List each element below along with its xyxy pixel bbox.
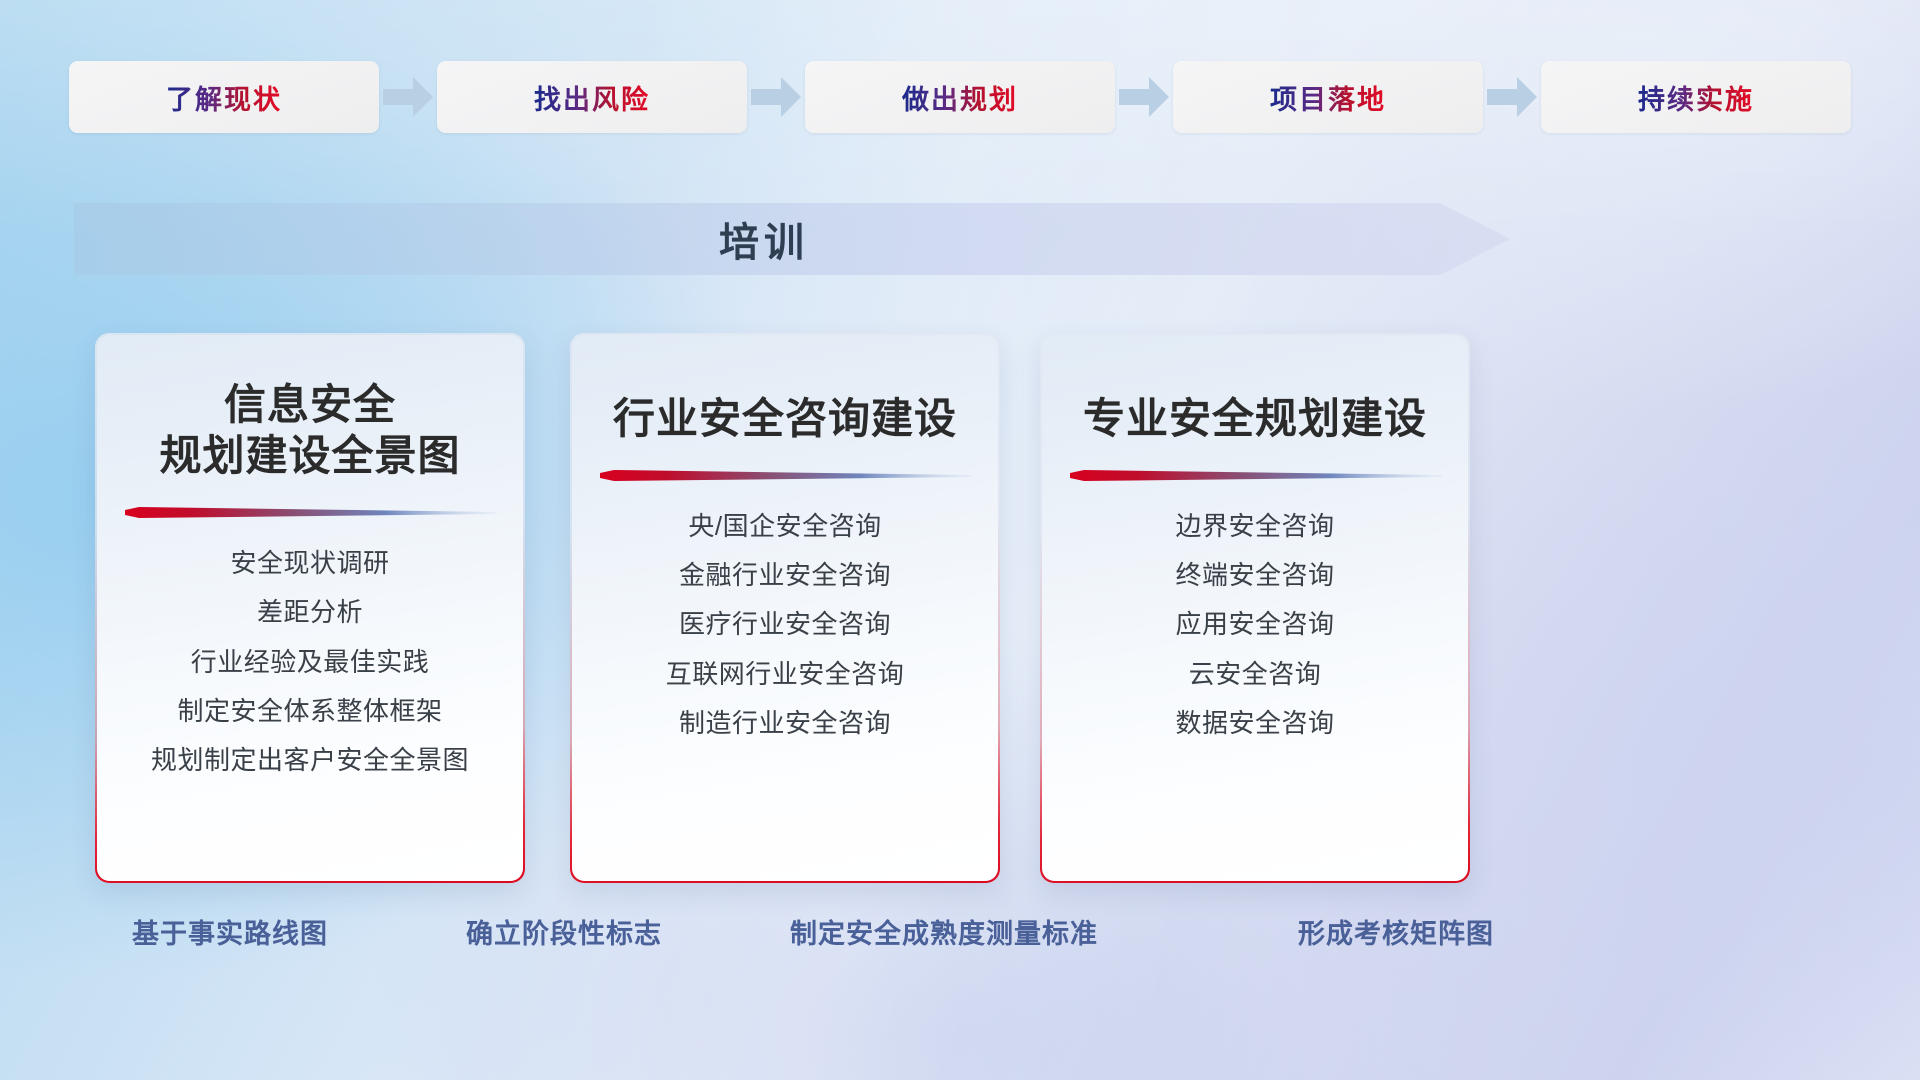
list-item: 安全现状调研 [230, 543, 389, 583]
list-item: 互联网行业安全咨询 [666, 654, 905, 694]
step-box-5[interactable]: 持续实施 [1541, 61, 1851, 133]
step-box-2[interactable]: 找出风险 [437, 61, 747, 133]
list-item: 边界安全咨询 [1175, 506, 1334, 546]
footnote-4: 形成考核矩阵图 [1298, 912, 1494, 951]
card-2[interactable]: 行业安全咨询建设 央/国企安全咨询 [570, 333, 1000, 883]
list-item: 终端安全咨询 [1175, 555, 1334, 595]
card-2-divider [598, 470, 972, 484]
card-2-list: 央/国企安全咨询 金融行业安全咨询 医疗行业安全咨询 互联网行业安全咨询 制造行… [666, 506, 905, 743]
list-item: 规划制定出客户安全全景图 [151, 740, 469, 780]
list-item: 差距分析 [257, 592, 363, 632]
card-2-inner: 行业安全咨询建设 央/国企安全咨询 [572, 335, 999, 882]
step-label-4: 项目落地 [1270, 78, 1386, 117]
card-1-list: 安全现状调研 差距分析 行业经验及最佳实践 制定安全体系整体框架 规划制定出客户… [151, 543, 469, 780]
list-item: 制定安全体系整体框架 [177, 691, 442, 731]
step-arrow-icon-3 [1115, 61, 1173, 133]
card-1-inner: 信息安全 规划建设全景图 安全现状调研 [97, 335, 524, 882]
list-item: 云安全咨询 [1189, 654, 1322, 694]
training-band: 培训 [74, 203, 1510, 275]
list-item: 制造行业安全咨询 [679, 703, 891, 743]
card-row: 信息安全 规划建设全景图 安全现状调研 [0, 333, 1920, 883]
step-arrow-icon-4 [1483, 61, 1541, 133]
footnote-3: 制定安全成熟度测量标准 [790, 912, 1098, 951]
card-3-title: 专业安全规划建设 [1083, 379, 1427, 444]
process-step-row: 了解现状 找出风险 做出规划 项目落地 持续实施 [0, 60, 1920, 134]
step-box-3[interactable]: 做出规划 [805, 61, 1115, 133]
card-3[interactable]: 专业安全规划建设 边界安全咨询 [1040, 333, 1470, 883]
step-label-2: 找出风险 [534, 78, 650, 117]
step-arrow-icon-2 [747, 61, 805, 133]
list-item: 金融行业安全咨询 [679, 555, 891, 595]
card-1-divider [123, 507, 497, 521]
list-item: 行业经验及最佳实践 [191, 642, 430, 682]
step-box-4[interactable]: 项目落地 [1173, 61, 1483, 133]
band-title: 培训 [74, 203, 1454, 275]
list-item: 医疗行业安全咨询 [679, 604, 891, 644]
step-box-1[interactable]: 了解现状 [69, 61, 379, 133]
card-1-title: 信息安全 规划建设全景图 [159, 379, 460, 481]
card-2-title: 行业安全咨询建设 [613, 379, 957, 444]
card-3-inner: 专业安全规划建设 边界安全咨询 [1042, 335, 1469, 882]
step-arrow-icon-1 [379, 61, 437, 133]
list-item: 央/国企安全咨询 [688, 506, 881, 546]
step-label-5: 持续实施 [1638, 78, 1754, 117]
card-3-list: 边界安全咨询 终端安全咨询 应用安全咨询 云安全咨询 数据安全咨询 [1175, 506, 1334, 743]
card-1[interactable]: 信息安全 规划建设全景图 安全现状调研 [95, 333, 525, 883]
card-3-divider [1068, 470, 1442, 484]
footnote-2: 确立阶段性标志 [466, 912, 662, 951]
list-item: 数据安全咨询 [1175, 703, 1334, 743]
footnote-row: 基于事实路线图 确立阶段性标志 制定安全成熟度测量标准 形成考核矩阵图 [0, 912, 1920, 968]
step-label-1: 了解现状 [166, 78, 282, 117]
footnote-1: 基于事实路线图 [132, 912, 328, 951]
list-item: 应用安全咨询 [1175, 604, 1334, 644]
step-label-3: 做出规划 [902, 78, 1018, 117]
